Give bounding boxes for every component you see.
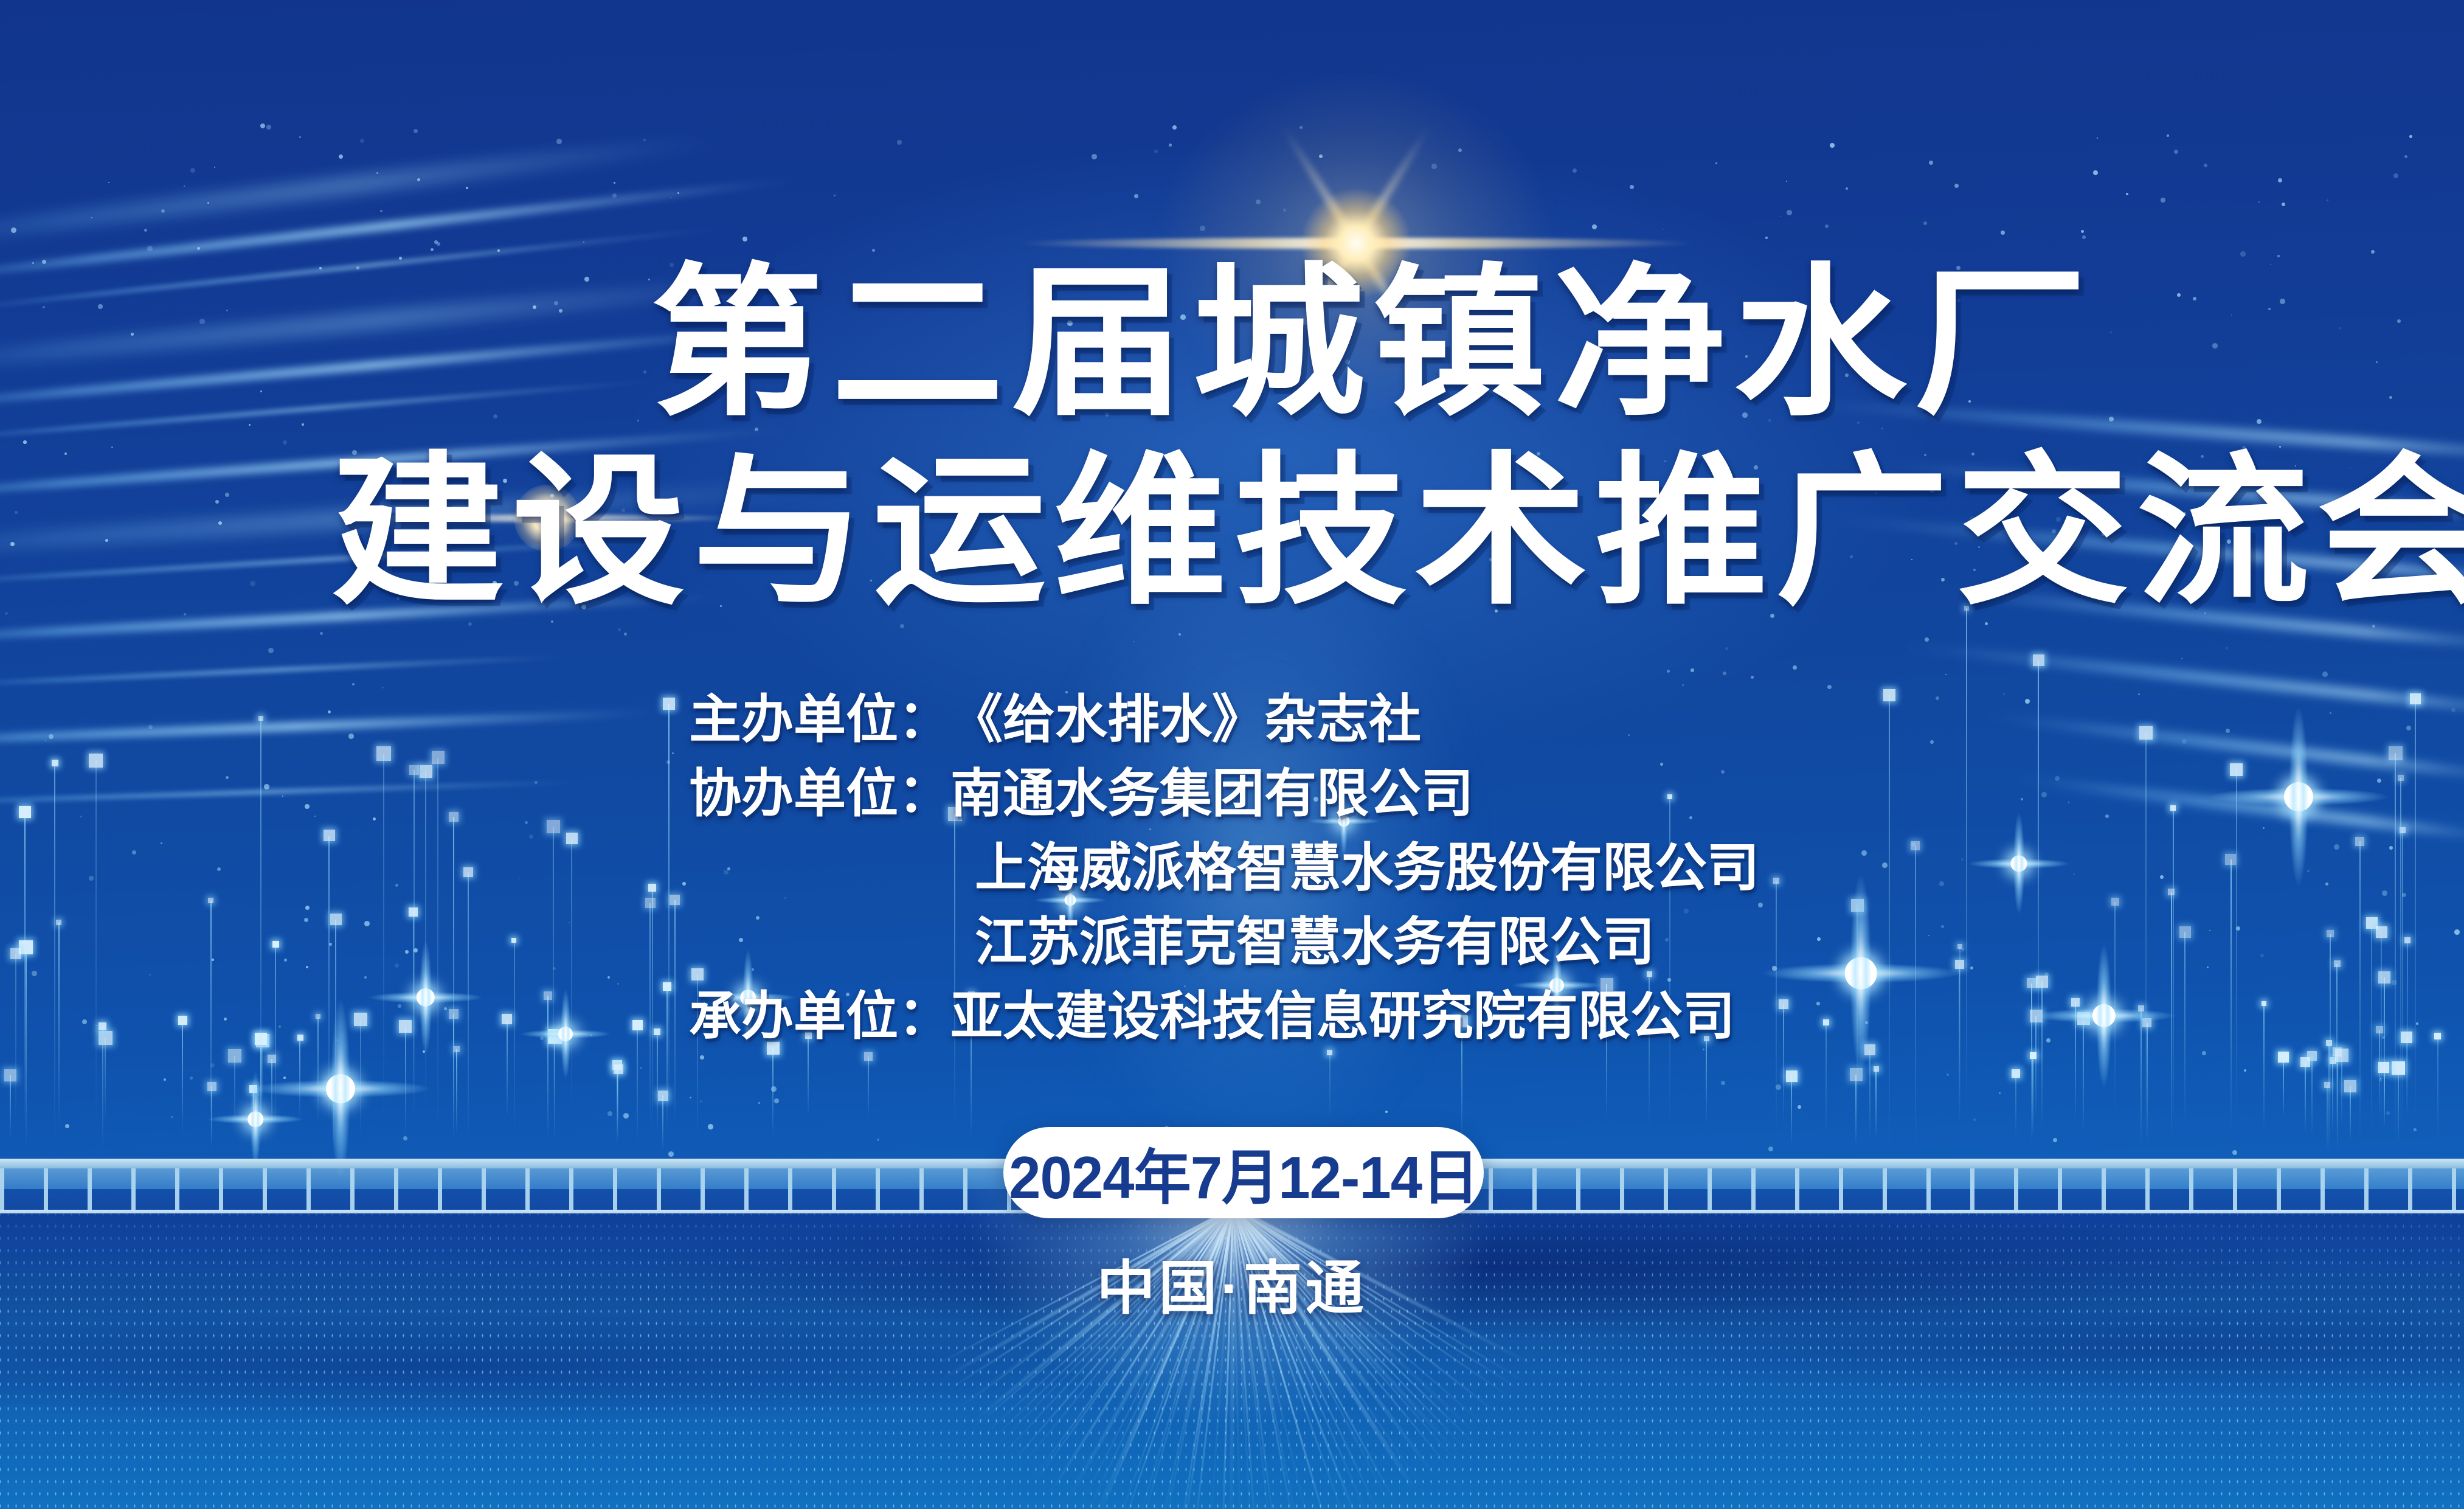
organizer-label: 承办单位：: [689, 979, 950, 1053]
organizer-value: 江苏派菲克智慧水务有限公司: [975, 905, 1655, 979]
organizer-row: 协办单位：南通水务集团有限公司: [689, 757, 1759, 831]
organizer-row: 上海威派格智慧水务股份有限公司: [689, 831, 1759, 905]
organizer-value: 上海威派格智慧水务股份有限公司: [975, 831, 1759, 905]
organizer-value: 《给水排水》杂志社: [950, 682, 1421, 757]
organizer-row: 主办单位：《给水排水》杂志社: [689, 682, 1759, 757]
title-line-2: 建设与运维技术推广交流会: [331, 450, 2464, 613]
date-text: 2024年7月12-14日: [1009, 1129, 1478, 1216]
organizer-row: 江苏派菲克智慧水务有限公司: [689, 905, 1759, 979]
organizer-label: 主办单位：: [689, 682, 950, 757]
organizer-row: 承办单位：亚太建设科技信息研究院有限公司: [689, 979, 1759, 1053]
title-line-1: 第二届城镇净水厂: [651, 262, 2095, 425]
conference-banner: 第二届城镇净水厂 建设与运维技术推广交流会 主办单位：《给水排水》杂志社协办单位…: [0, 0, 2464, 1509]
location-text: 中国·南通: [0, 1241, 2464, 1325]
organizer-list: 主办单位：《给水排水》杂志社协办单位：南通水务集团有限公司上海威派格智慧水务股份…: [689, 682, 1759, 1054]
organizer-value: 亚太建设科技信息研究院有限公司: [950, 979, 1735, 1053]
organizer-value: 南通水务集团有限公司: [950, 757, 1473, 831]
banner-content: 第二届城镇净水厂 建设与运维技术推广交流会 主办单位：《给水排水》杂志社协办单位…: [0, 0, 2464, 1509]
date-badge: 2024年7月12-14日: [1003, 1127, 1484, 1218]
organizer-label: 协办单位：: [689, 757, 950, 831]
